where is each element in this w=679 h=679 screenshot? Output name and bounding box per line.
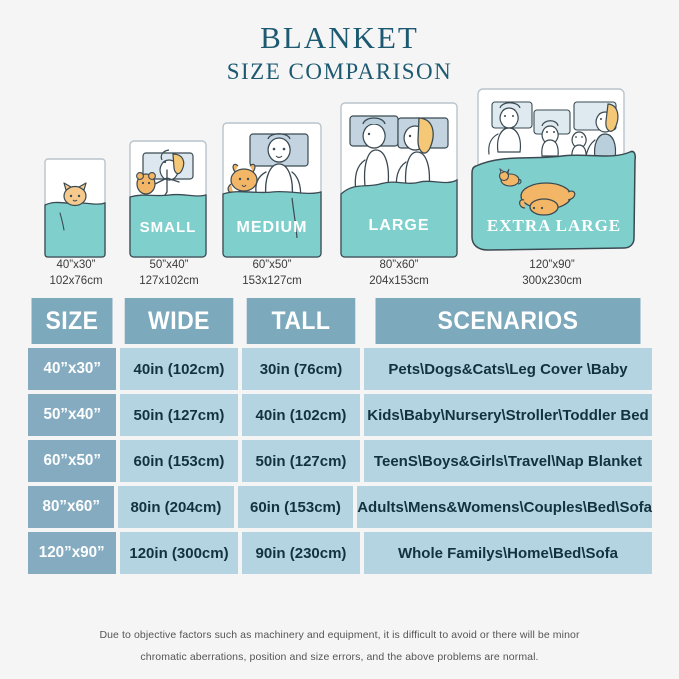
caption-inches: 60”x50” bbox=[226, 258, 318, 274]
row-size-label: 80”x60” bbox=[42, 498, 99, 516]
disclaimer: Due to objective factors such as machine… bbox=[0, 624, 679, 668]
row-size-label: 40”x30” bbox=[43, 360, 100, 378]
header-tall: TALL bbox=[247, 298, 356, 344]
row-tall: 50in (127cm) bbox=[242, 440, 360, 482]
row-scenarios: Kids\Baby\Nursery\Stroller\Toddler Bed bbox=[364, 394, 652, 436]
table-row: 50”x40” 50in (127cm) 40in (102cm) Kids\B… bbox=[28, 394, 652, 436]
caption-metric: 127x102cm bbox=[123, 274, 215, 290]
illustration-120x90: EXTRA LARGE bbox=[462, 88, 638, 258]
row-size: 120”x90” bbox=[28, 532, 116, 574]
row-size-label: 120”x90” bbox=[39, 544, 105, 562]
illustration-40x30 bbox=[44, 158, 106, 258]
row-size: 50”x40” bbox=[28, 394, 116, 436]
caption-40x30: 40”x30” 102x76cm bbox=[31, 258, 121, 289]
row-size-label: 50”x40” bbox=[43, 406, 100, 424]
caption-inches: 40”x30” bbox=[31, 258, 121, 274]
illustration-label-medium: MEDIUM bbox=[237, 219, 308, 236]
caption-50x40: 50”x40” 127x102cm bbox=[123, 258, 215, 289]
table-header-row: SIZE WIDE TALL SCENARIOS bbox=[28, 298, 652, 344]
illustration-50x40: SMALL bbox=[129, 140, 207, 258]
page-title: BLANKET bbox=[0, 22, 679, 55]
disclaimer-line-2: chromatic aberrations, position and size… bbox=[0, 646, 679, 668]
teddy-bear-figure bbox=[137, 173, 156, 194]
disclaimer-line-1: Due to objective factors such as machine… bbox=[0, 624, 679, 646]
illustration-strip: SMALL bbox=[0, 88, 679, 258]
illustration-label-large: LARGE bbox=[369, 217, 430, 234]
illustration-60x50: MEDIUM bbox=[222, 122, 322, 258]
caption-metric: 102x76cm bbox=[31, 274, 121, 290]
caption-inches: 80”x60” bbox=[353, 258, 445, 274]
caption-inches: 120”x90” bbox=[504, 258, 600, 274]
row-wide: 80in (204cm) bbox=[118, 486, 234, 528]
row-scenarios: Adults\Mens&Womens\Couples\Bed\Sofa bbox=[357, 486, 652, 528]
row-size: 80”x60” bbox=[28, 486, 114, 528]
row-wide: 120in (300cm) bbox=[120, 532, 238, 574]
row-tall: 40in (102cm) bbox=[242, 394, 360, 436]
caption-inches: 50”x40” bbox=[123, 258, 215, 274]
row-tall: 90in (230cm) bbox=[242, 532, 360, 574]
table-row: 80”x60” 80in (204cm) 60in (153cm) Adults… bbox=[28, 486, 652, 528]
table-row: 120”x90” 120in (300cm) 90in (230cm) Whol… bbox=[28, 532, 652, 574]
header-size: SIZE bbox=[32, 298, 113, 344]
illustration-label-extra-large: EXTRA LARGE bbox=[487, 216, 621, 235]
row-scenarios: Whole Familys\Home\Bed\Sofa bbox=[364, 532, 652, 574]
row-wide: 40in (102cm) bbox=[120, 348, 238, 390]
illustration-label-small: SMALL bbox=[140, 219, 197, 236]
illustration-80x60: LARGE bbox=[340, 102, 458, 258]
row-wide: 60in (153cm) bbox=[120, 440, 238, 482]
caption-metric: 153x127cm bbox=[226, 274, 318, 290]
size-table: SIZE WIDE TALL SCENARIOS 40”x30” 40in (1… bbox=[28, 298, 652, 578]
row-tall: 60in (153cm) bbox=[238, 486, 354, 528]
table-row: 60”x50” 60in (153cm) 50in (127cm) TeenS\… bbox=[28, 440, 652, 482]
header-scenarios: SCENARIOS bbox=[376, 298, 641, 344]
row-scenarios: Pets\Dogs&Cats\Leg Cover \Baby bbox=[364, 348, 652, 390]
row-size-label: 60”x50” bbox=[43, 452, 100, 470]
cat-figure bbox=[64, 183, 86, 206]
caption-120x90: 120”x90” 300x230cm bbox=[504, 258, 600, 289]
caption-metric: 300x230cm bbox=[504, 274, 600, 290]
row-wide: 50in (127cm) bbox=[120, 394, 238, 436]
row-size: 60”x50” bbox=[28, 440, 116, 482]
table-row: 40”x30” 40in (102cm) 30in (76cm) Pets\Do… bbox=[28, 348, 652, 390]
caption-80x60: 80”x60” 204x153cm bbox=[353, 258, 445, 289]
infographic-page: BLANKET SIZE COMPARISON bbox=[0, 0, 679, 679]
caption-60x50: 60”x50” 153x127cm bbox=[226, 258, 318, 289]
page-subtitle: SIZE COMPARISON bbox=[0, 59, 679, 85]
row-tall: 30in (76cm) bbox=[242, 348, 360, 390]
header-wide: WIDE bbox=[125, 298, 234, 344]
row-scenarios: TeenS\Boys&Girls\Travel\Nap Blanket bbox=[364, 440, 652, 482]
row-size: 40”x30” bbox=[28, 348, 116, 390]
caption-metric: 204x153cm bbox=[353, 274, 445, 290]
title-block: BLANKET SIZE COMPARISON bbox=[0, 0, 679, 85]
size-captions: 40”x30” 102x76cm 50”x40” 127x102cm 60”x5… bbox=[0, 258, 679, 298]
